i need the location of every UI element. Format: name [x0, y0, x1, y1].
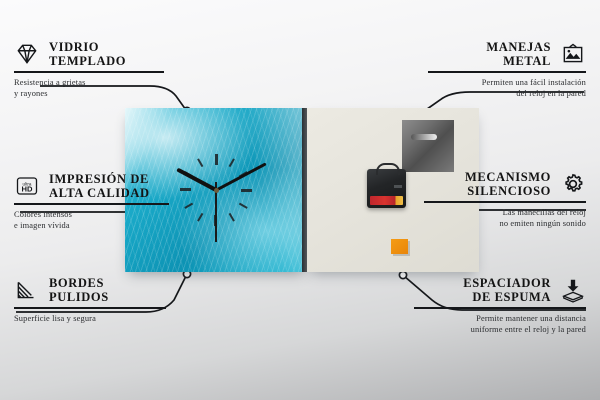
gear-icon	[560, 171, 586, 197]
feature-title: ESPACIADOR	[463, 276, 551, 290]
feature-mecanismo-silencioso: MECANISMO SILENCIOSO Las manecillas del …	[424, 170, 586, 229]
feature-desc: no emiten ningún sonido	[424, 218, 586, 229]
feature-desc: Colores intensos	[14, 209, 169, 220]
feature-manejas-metal: MANEJAS METAL Permiten una fácil instala…	[428, 40, 586, 99]
feature-title: DE ESPUMA	[463, 290, 551, 304]
feature-title: ALTA CALIDAD	[49, 186, 150, 200]
feature-title: MECANISMO	[465, 170, 551, 184]
diamond-icon	[14, 41, 40, 67]
mechanism-detail	[394, 185, 402, 188]
battery	[370, 196, 403, 205]
svg-text:HD: HD	[22, 185, 33, 194]
feature-title: VIDRIO	[49, 40, 126, 54]
feature-desc: Superficie lisa y segura	[14, 313, 166, 324]
feature-title: METAL	[486, 54, 551, 68]
clock-center-pin	[214, 188, 219, 193]
feature-title: MANEJAS	[486, 40, 551, 54]
feature-rule	[424, 201, 586, 203]
hanger-slot	[411, 134, 437, 140]
feature-rule	[414, 307, 586, 309]
feature-vidrio-templado: VIDRIO TEMPLADO Resistencia a grietas y …	[14, 40, 164, 99]
feature-desc: Permiten una fácil instalación	[428, 77, 586, 88]
feature-desc: Permite mantener una distancia	[414, 313, 586, 324]
feature-rule	[14, 203, 169, 205]
feature-desc: del reloj en la pared	[428, 88, 586, 99]
picture-hanger-icon	[560, 41, 586, 67]
feature-title: TEMPLADO	[49, 54, 126, 68]
feature-rule	[14, 307, 166, 309]
infographic-canvas: VIDRIO TEMPLADO Resistencia a grietas y …	[0, 0, 600, 400]
feature-title: BORDES	[49, 276, 109, 290]
foam-spacer-icon	[560, 277, 586, 303]
feature-rule	[428, 71, 586, 73]
feature-desc: y rayones	[14, 88, 164, 99]
feature-bordes-pulidos: BORDES PULIDOS Superficie lisa y segura	[14, 276, 166, 324]
feature-title: IMPRESIÓN DE	[49, 172, 150, 186]
feature-rule	[14, 71, 164, 73]
polished-edges-icon	[14, 277, 40, 303]
clock-mechanism	[367, 169, 406, 208]
feature-impresion-alta-calidad: ultra HD IMPRESIÓN DE ALTA CALIDAD Color…	[14, 172, 169, 231]
feature-desc: Resistencia a grietas	[14, 77, 164, 88]
feature-desc: uniforme entre el reloj y la pared	[414, 324, 586, 335]
feature-title: PULIDOS	[49, 290, 109, 304]
feature-desc: e imagen vívida	[14, 220, 169, 231]
feature-espaciador-espuma: ESPACIADOR DE ESPUMA Permite mantener un…	[414, 276, 586, 335]
ultra-hd-icon: ultra HD	[14, 173, 40, 199]
wire-dot-espaciador	[399, 271, 406, 278]
foam-spacer-pad	[391, 239, 408, 254]
feature-title: SILENCIOSO	[465, 184, 551, 198]
metal-hanger-plate	[402, 120, 454, 172]
mechanism-hanging-loop	[376, 163, 400, 175]
feature-desc: Las manecillas del reloj	[424, 207, 586, 218]
